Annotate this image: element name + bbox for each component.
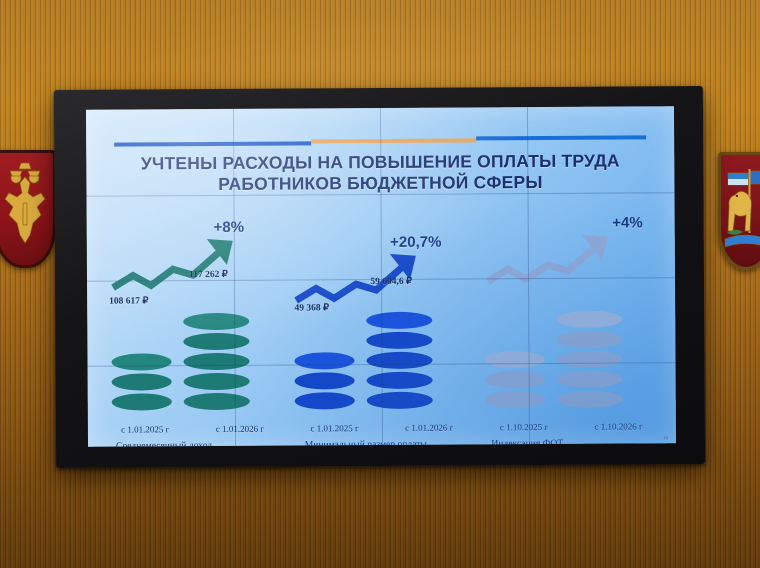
caption-3-line-1: Индексация ФОТ (491, 436, 662, 447)
value-label-1b: 117 262 ₽ (189, 269, 228, 280)
yamalo-nenets-coat-of-arms-emblem (718, 152, 760, 264)
coin-stack-3b (556, 310, 623, 408)
date-label-3a: с 1.10.2025 г (500, 422, 548, 432)
group-captions: Среднемесячный доход от трудовой деятель… (98, 436, 666, 447)
date-labels-3: с 1.10.2025 г с 1.10.2026 г (477, 421, 666, 432)
coin-stack-2b (367, 311, 434, 409)
rule-segment-blue-2 (476, 135, 646, 140)
date-label-1b: с 1.01.2026 г (216, 424, 264, 434)
caption-1-line-1: Среднемесячный доход (116, 439, 287, 447)
chart-group-1: +8% 108 617 ₽ 117 262 ₽ (97, 219, 288, 435)
date-label-2b: с 1.01.2026 г (405, 423, 453, 433)
growth-label-1: +8% (214, 219, 245, 236)
rule-segment-orange (311, 138, 476, 143)
rule-segment-blue (114, 141, 311, 146)
slide-page-number: 16 (663, 436, 668, 441)
double-headed-eagle-icon (0, 153, 53, 265)
coin-stack-2a (295, 351, 355, 409)
slide-title-line-1: УЧТЕНЫ РАСХОДЫ НА ПОВЫШЕНИЕ ОПЛАТЫ ТРУДА (141, 151, 620, 174)
growth-label-3: +4% (612, 214, 643, 231)
coin-stacks-2 (286, 278, 476, 409)
growth-label-2: +20,7% (390, 234, 441, 251)
date-labels-2: с 1.01.2025 г с 1.01.2026 г (287, 422, 476, 433)
date-label-1a: с 1.01.2025 г (121, 424, 169, 434)
coin-stack-3a (484, 350, 544, 408)
coin-stack-1a (111, 352, 171, 410)
accent-rule-decoration (114, 139, 646, 146)
shield-shape (718, 152, 760, 270)
presentation-slide: УЧТЕНЫ РАСХОДЫ НА ПОВЫШЕНИЕ ОПЛАТЫ ТРУДА… (86, 106, 676, 447)
slide-title: УЧТЕНЫ РАСХОДЫ НА ПОВЫШЕНИЕ ОПЛАТЫ ТРУДА… (112, 150, 648, 195)
slide-title-line-2: РАБОТНИКОВ БЮДЖЕТНОЙ СФЕРЫ (112, 171, 648, 195)
coin-stacks-3 (476, 277, 666, 408)
coin-stacks-1 (97, 280, 287, 411)
conference-room-wall: УЧТЕНЫ РАСХОДЫ НА ПОВЫШЕНИЕ ОПЛАТЫ ТРУДА… (0, 0, 760, 568)
russian-coat-of-arms-emblem (0, 150, 50, 262)
video-wall-display: УЧТЕНЫ РАСХОДЫ НА ПОВЫШЕНИЕ ОПЛАТЫ ТРУДА… (54, 86, 705, 468)
date-label-2a: с 1.01.2025 г (310, 423, 358, 433)
chart-columns: +8% 108 617 ₽ 117 262 ₽ (97, 216, 666, 434)
display-screen: УЧТЕНЫ РАСХОДЫ НА ПОВЫШЕНИЕ ОПЛАТЫ ТРУДА… (86, 106, 676, 447)
coin-stack-1b (183, 312, 250, 410)
chart-group-3: +4% (475, 216, 666, 432)
shield-shape (0, 150, 56, 268)
caption-group-3: Индексация ФОТ с 1 октября 2026 года на … (479, 436, 666, 447)
caption-group-2: Минимальный размер оплаты труда в автоно… (291, 437, 480, 446)
date-label-3b: с 1.10.2026 г (594, 421, 642, 431)
chart-group-2: +20,7% 49 368 ₽ 59 604,6 ₽ (286, 217, 477, 433)
polar-bear-with-flag-icon (721, 155, 760, 267)
date-labels-1: с 1.01.2025 г с 1.01.2026 г (98, 424, 287, 435)
caption-2-line-1: Минимальный размер оплаты (305, 437, 476, 446)
caption-group-1: Среднемесячный доход от трудовой деятель… (98, 439, 291, 447)
